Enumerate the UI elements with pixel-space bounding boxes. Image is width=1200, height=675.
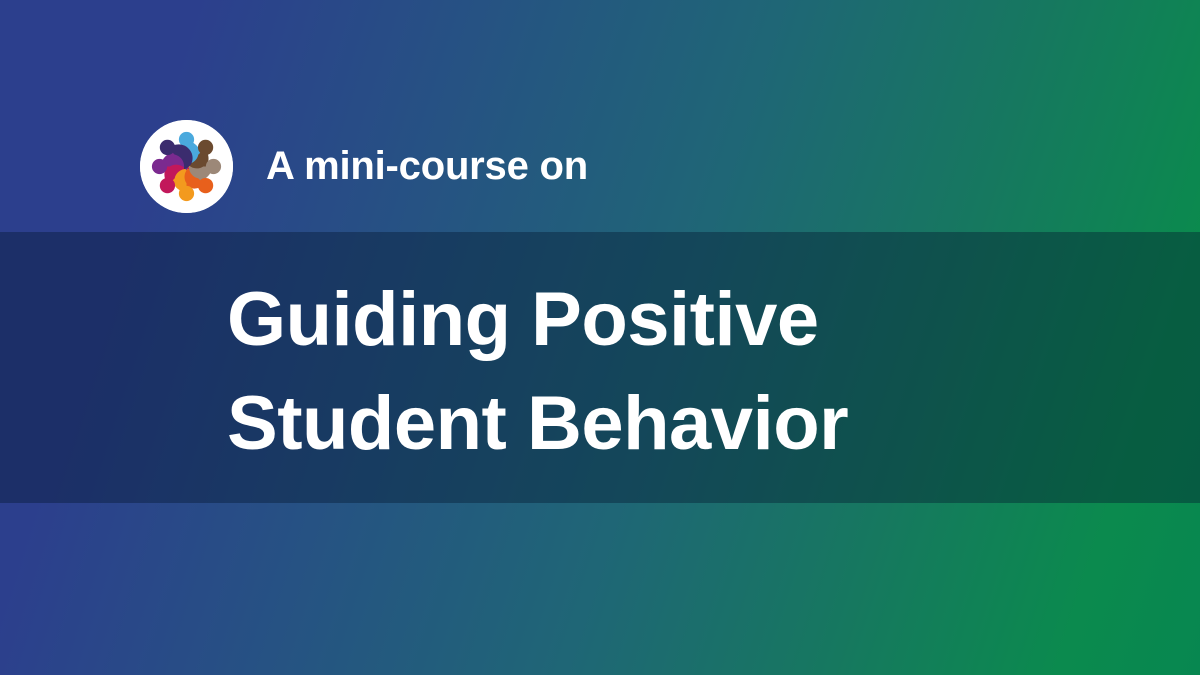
title-slide: A mini-course on Guiding Positive Studen… [0,0,1200,675]
header-row: A mini-course on [140,117,588,215]
team-circle-logo-icon [140,120,233,213]
title-line-2: Student Behavior [227,372,1047,476]
kicker-text: A mini-course on [266,146,588,186]
page-title: Guiding Positive Student Behavior [227,268,1047,476]
title-line-1: Guiding Positive [227,268,1047,372]
